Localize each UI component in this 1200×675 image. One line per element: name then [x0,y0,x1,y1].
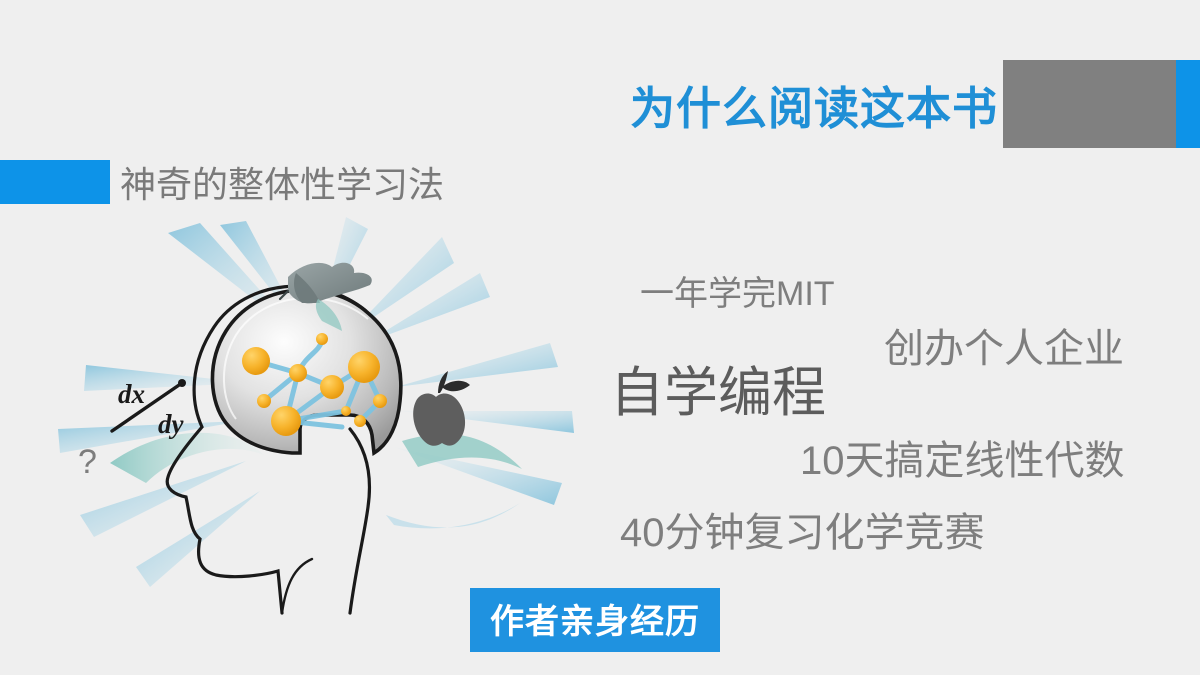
accent-block-gray [1003,60,1176,148]
page-subtitle: 神奇的整体性学习法 [120,156,444,208]
page-title: 为什么阅读这本书 [630,72,998,137]
slide-canvas: 为什么阅读这本书 神奇的整体性学习法 一年学完MIT 创办个人企业 自学编程 1… [0,0,1200,675]
achievement-coding: 自学编程 [610,348,826,427]
achievement-algebra: 10天搞定线性代数 [800,428,1125,486]
question-mark-icon: ? [78,443,97,481]
svg-text:dy: dy [158,409,185,439]
achievement-startup: 创办个人企业 [884,316,1124,374]
svg-text:dx: dx [118,379,145,409]
achievement-chemistry: 40分钟复习化学竞赛 [620,500,985,558]
accent-block-right [1176,60,1200,148]
achievement-mit: 一年学完MIT [640,266,835,315]
head-brain-learning-illustration: dx dy ? [50,215,580,615]
accent-block-left [0,160,110,204]
